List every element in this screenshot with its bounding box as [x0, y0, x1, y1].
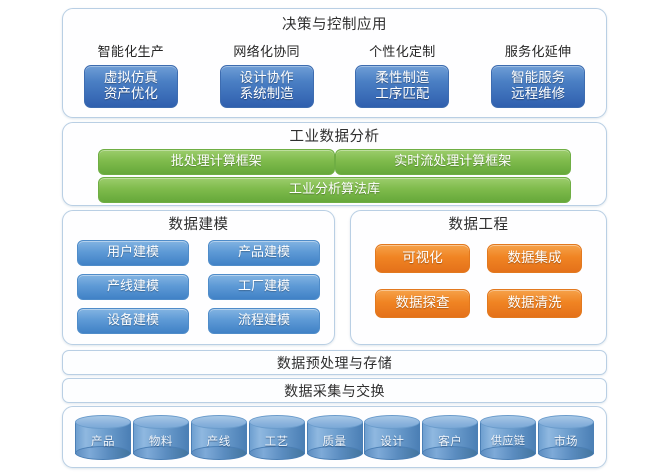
data-source-product[interactable]: 产品	[75, 415, 131, 460]
data-source-label: 质量	[307, 427, 363, 455]
chip-line-2: 系统制造	[221, 86, 313, 102]
data-source-label: 物料	[133, 427, 189, 455]
modeling-chip-grid: 用户建模 产品建模 产线建模 工厂建模 设备建模 流程建模	[77, 240, 320, 334]
application-column-personalized-customization: 个性化定制 柔性制造 工序匹配	[343, 41, 461, 108]
data-source-supply-chain[interactable]: 供应链	[480, 415, 536, 460]
layer-data-modeling: 数据建模 用户建模 产品建模 产线建模 工厂建模 设备建模 流程建模	[62, 210, 335, 345]
modeling-chip-equipment[interactable]: 设备建模	[77, 308, 189, 334]
chip-line-2: 远程维修	[492, 86, 584, 102]
application-column-service-extension: 服务化延伸 智能服务 远程维修	[479, 41, 597, 108]
data-source-label: 供应链	[480, 427, 536, 455]
analysis-framework-row: 批处理计算框架 实时流处理计算框架	[98, 149, 571, 175]
modeling-chip-user[interactable]: 用户建模	[77, 240, 189, 266]
engineering-chip-integration[interactable]: 数据集成	[487, 244, 582, 273]
data-source-label: 产线	[191, 427, 247, 455]
analysis-chip-batch-framework[interactable]: 批处理计算框架	[98, 149, 335, 175]
engineering-chip-grid: 可视化 数据集成 数据探查 数据清洗	[375, 244, 582, 318]
data-source-label: 客户	[422, 427, 478, 455]
modeling-chip-product[interactable]: 产品建模	[208, 240, 320, 266]
application-columns: 智能化生产 虚拟仿真 资产优化 网络化协同 设计协作 系统制造 个性化定制 柔性…	[63, 41, 606, 108]
chip-line-1: 智能服务	[492, 70, 584, 86]
data-source-label: 产品	[75, 427, 131, 455]
layer-data-engineering-title: 数据工程	[351, 218, 606, 233]
data-source-label: 市场	[538, 427, 594, 455]
data-source-market[interactable]: 市场	[538, 415, 594, 460]
data-source-material[interactable]: 物料	[133, 415, 189, 460]
application-column-networked-collaboration: 网络化协同 设计协作 系统制造	[208, 41, 326, 108]
data-source-cylinder-row: 产品 物料 产线 工艺	[75, 415, 594, 460]
layer-collection-exchange[interactable]: 数据采集与交换	[62, 378, 607, 403]
layer-applications-title: 决策与控制应用	[63, 18, 606, 33]
application-column-label: 网络化协同	[208, 41, 326, 60]
data-source-design[interactable]: 设计	[364, 415, 420, 460]
application-chip-networked-collaboration[interactable]: 设计协作 系统制造	[220, 65, 314, 108]
engineering-chip-visualization[interactable]: 可视化	[375, 244, 470, 273]
modeling-chip-production-line[interactable]: 产线建模	[77, 274, 189, 300]
application-column-label: 个性化定制	[343, 41, 461, 60]
modeling-chip-factory[interactable]: 工厂建模	[208, 274, 320, 300]
data-source-customer[interactable]: 客户	[422, 415, 478, 460]
layer-analysis-title: 工业数据分析	[63, 130, 606, 145]
chip-line-1: 虚拟仿真	[85, 70, 177, 86]
application-chip-personalized-customization[interactable]: 柔性制造 工序匹配	[355, 65, 449, 108]
modeling-chip-process[interactable]: 流程建模	[208, 308, 320, 334]
data-source-label: 设计	[364, 427, 420, 455]
architecture-diagram: 决策与控制应用 智能化生产 虚拟仿真 资产优化 网络化协同 设计协作 系统制造 …	[0, 0, 653, 474]
data-source-production-line[interactable]: 产线	[191, 415, 247, 460]
data-source-label: 工艺	[249, 427, 305, 455]
chip-line-2: 资产优化	[85, 86, 177, 102]
data-source-quality[interactable]: 质量	[307, 415, 363, 460]
layer-data-sources: 产品 物料 产线 工艺	[62, 406, 607, 468]
layer-applications: 决策与控制应用 智能化生产 虚拟仿真 资产优化 网络化协同 设计协作 系统制造 …	[62, 8, 607, 118]
engineering-chip-exploration[interactable]: 数据探查	[375, 289, 470, 318]
chip-line-1: 设计协作	[221, 70, 313, 86]
layer-data-engineering: 数据工程 可视化 数据集成 数据探查 数据清洗	[350, 210, 607, 345]
application-column-smart-production: 智能化生产 虚拟仿真 资产优化	[72, 41, 190, 108]
engineering-chip-cleansing[interactable]: 数据清洗	[487, 289, 582, 318]
chip-line-1: 柔性制造	[356, 70, 448, 86]
application-column-label: 智能化生产	[72, 41, 190, 60]
analysis-algorithm-row: 工业分析算法库	[98, 177, 571, 203]
data-source-process[interactable]: 工艺	[249, 415, 305, 460]
layer-analysis: 工业数据分析 批处理计算框架 实时流处理计算框架 工业分析算法库	[62, 122, 607, 206]
analysis-chip-algorithm-library[interactable]: 工业分析算法库	[98, 177, 571, 203]
application-chip-service-extension[interactable]: 智能服务 远程维修	[491, 65, 585, 108]
chip-line-2: 工序匹配	[356, 86, 448, 102]
analysis-chip-stream-framework[interactable]: 实时流处理计算框架	[335, 149, 572, 175]
application-column-label: 服务化延伸	[479, 41, 597, 60]
layer-preprocess-storage[interactable]: 数据预处理与存储	[62, 350, 607, 375]
application-chip-smart-production[interactable]: 虚拟仿真 资产优化	[84, 65, 178, 108]
layer-data-modeling-title: 数据建模	[63, 218, 334, 233]
